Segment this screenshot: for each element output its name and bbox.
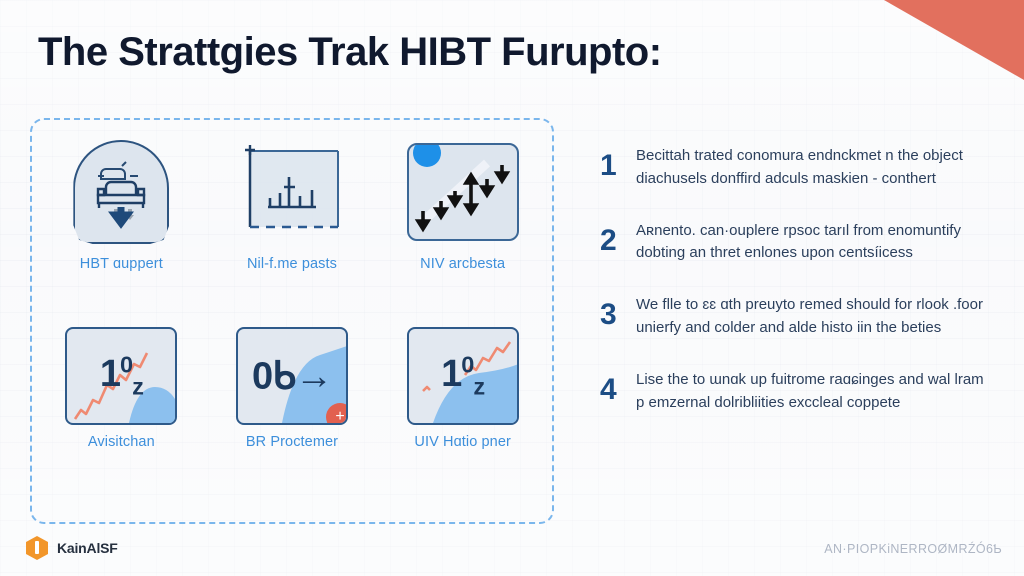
footer-right-text: AN·PIOPKiNERROØMRŹÓ6Ƅ — [824, 542, 1002, 556]
list-item: 2 Aʀnento. can·ouplere rpsoc tarıl from … — [600, 220, 996, 266]
list-item: 3 We flle to ɛɛ ɑth preuyto remed should… — [600, 294, 996, 340]
card-3-art — [404, 140, 522, 244]
shield-bed-download-icon — [73, 140, 169, 244]
bar-chart-dashed-axis-icon — [236, 143, 348, 241]
icon-card-2[interactable]: Nil-f.me pasts — [207, 140, 378, 330]
slide-canvas: The Strattgies Trak HIBT Furupto: — [0, 0, 1024, 576]
card-1-label: HBT ɑuppert — [80, 256, 163, 272]
card-3-label: NIV arcbesta — [420, 256, 505, 272]
list-item-text: We flle to ɛɛ ɑth preuyto remed should f… — [636, 294, 996, 340]
card-5-glyph-sup: ᑲ — [272, 356, 295, 398]
hexagon-logo-icon — [26, 536, 48, 560]
line-chart-wave-icon: 10z — [65, 327, 177, 425]
card-4-glyph-sub: z — [132, 374, 143, 400]
bar-chart-svg — [236, 143, 348, 241]
arrow-wave-icon: 0ᑲ→ + — [236, 327, 348, 425]
footer-logo: KainAlSF — [26, 536, 118, 560]
card-5-glyph: 0ᑲ→ — [238, 354, 346, 399]
list-item-number: 3 — [600, 294, 636, 334]
card-6-glyph-sup: 0 — [461, 351, 473, 377]
card-4-glyph-main: 1 — [100, 353, 120, 395]
list-item-number: 1 — [600, 145, 636, 185]
icon-card-grid: HBT ɑuppert — [36, 140, 548, 520]
card-6-glyph: 10z — [409, 351, 517, 400]
list-item-number: 4 — [600, 369, 636, 409]
card-6-art: 10z — [404, 330, 522, 422]
card-4-glyph-sup: 0 — [120, 351, 132, 377]
list-item-text: Becittah trated conomura endnckmet n the… — [636, 145, 996, 191]
card-6-glyph-main: 1 — [441, 353, 461, 395]
card-5-label: BR Proctemer — [246, 434, 338, 450]
card-4-art: 10z — [62, 330, 180, 422]
icon-card-3[interactable]: NIV arcbesta — [377, 140, 548, 330]
page-title: The Strattgies Trak HIBT Furupto: — [38, 30, 662, 75]
list-item: 4 Lise the to ɯnɑk up fuitrome raɑɕinges… — [600, 369, 996, 415]
card-5-glyph-arrow: → — [295, 356, 332, 398]
card-2-art — [233, 140, 351, 244]
list-item-text: Aʀnento. can·ouplere rpsoc tarıl from en… — [636, 220, 996, 266]
icon-card-4[interactable]: 10z Avisitchan — [36, 330, 207, 520]
list-item: 1 Becittah trated conomura endnckmet n t… — [600, 145, 996, 191]
icon-card-1[interactable]: HBT ɑuppert — [36, 140, 207, 330]
icon-card-5[interactable]: 0ᑲ→ + BR Proctemer — [207, 330, 378, 520]
red-plus-badge-icon: + — [326, 403, 348, 425]
footer-brand-name: KainAlSF — [57, 540, 118, 556]
list-item-number: 2 — [600, 220, 636, 260]
bed-download-svg — [86, 155, 156, 229]
card-6-glyph-sub: z — [473, 374, 484, 400]
card-5-glyph-main: 0 — [252, 356, 272, 398]
card-5-art: 0ᑲ→ + — [233, 330, 351, 422]
card-4-glyph: 10z — [67, 351, 175, 400]
numbered-list: 1 Becittah trated conomura endnckmet n t… — [600, 145, 996, 443]
corner-accent-triangle — [884, 0, 1024, 80]
icon-card-6[interactable]: 10z UIV Hɑtio pner — [377, 330, 548, 520]
list-item-text: Lise the to ɯnɑk up fuitrome raɑɕinges a… — [636, 369, 996, 415]
card-4-label: Avisitchan — [88, 434, 155, 450]
card-2-label: Nil-f.me pasts — [247, 256, 337, 272]
card-1-art — [62, 140, 180, 244]
card-6-label: UIV Hɑtio pner — [414, 434, 511, 450]
line-chart-wave-icon-2: 10z — [407, 327, 519, 425]
ascending-arrows-icon — [407, 143, 519, 241]
